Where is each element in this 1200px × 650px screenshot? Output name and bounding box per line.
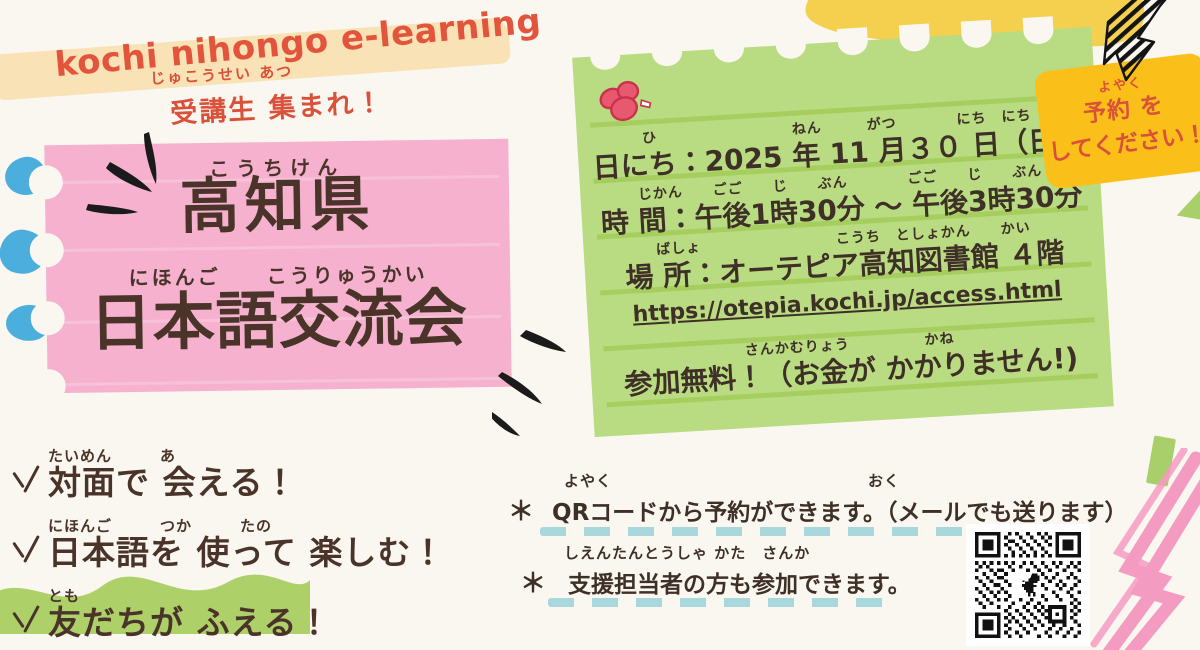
check-icon (8, 461, 48, 501)
note-2-ruby: しえんたんとうしゃ かた さんか (520, 542, 911, 563)
ticket-title-bottom: 日本語交流会 (46, 287, 511, 355)
ticket-notch (31, 369, 65, 403)
note-1-marker: ＊ (508, 491, 534, 528)
ticket-rule (58, 377, 502, 386)
note-2: しえんたんとうしゃ かた さんか ＊ 支援担当者の方も参加できます。 (520, 542, 911, 600)
note-1-underline (540, 527, 1020, 536)
note-2-text: 支援担当者の方も参加できます。 (568, 565, 911, 599)
ticket-rule (56, 243, 500, 252)
memo-tear (713, 35, 745, 64)
note-1: よやく おく ＊ QRコードから予約ができます。（メールでも送ります） (508, 470, 1127, 528)
note-2-marker: ＊ (520, 563, 546, 600)
check-icon (8, 601, 48, 641)
memo-tear (961, 20, 993, 49)
memo-tear (589, 42, 621, 71)
ink-emphasis-marks-left (86, 128, 206, 238)
note-2-underline (548, 598, 898, 607)
subtitle-text: 受講生 集まれ！ (169, 80, 385, 130)
checklist-text: 対面で 会える！ (48, 465, 298, 501)
note-1-ruby: よやく おく (508, 470, 1127, 491)
qr-code[interactable] (974, 532, 1082, 638)
check-icon (8, 531, 48, 571)
green-triangle-decoration (1177, 176, 1200, 220)
checklist-text: 日本語を 使って 楽しむ！ (48, 535, 445, 571)
checklist-item-2: にほんご つか たの 日本語を 使って 楽しむ！ (8, 518, 445, 571)
checklist-item-1: たいめん あ 対面で 会える！ (8, 448, 298, 501)
checklist-text: 友だちが ふえる！ (48, 605, 332, 641)
checklist-item-3: とも 友だちが ふえる！ (8, 588, 332, 641)
memo-tear (899, 24, 931, 53)
memo-tear (837, 27, 869, 56)
striped-arrow-icon (1030, 0, 1180, 104)
flyer-canvas: kochi nihongo e-learning じゅこうせい あつ 受講生 集… (0, 0, 1200, 650)
memo-tear (775, 31, 807, 60)
qr-code-panel[interactable] (966, 524, 1090, 646)
note-1-text: QRコードから予約ができます。（メールでも送ります） (552, 493, 1127, 527)
memo-tear (651, 38, 683, 67)
